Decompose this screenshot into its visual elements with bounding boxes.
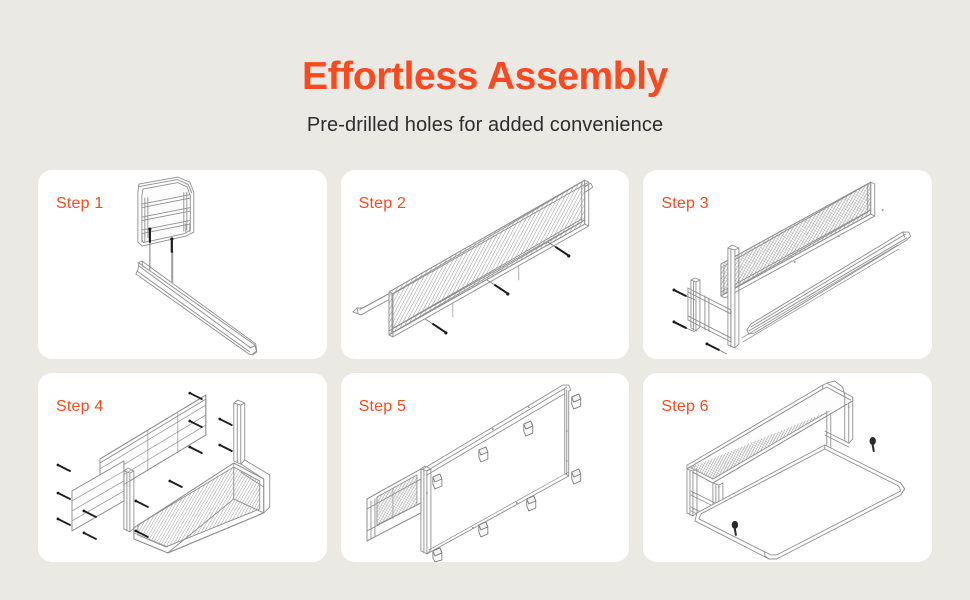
step-card-3[interactable]: Step 3 (643, 170, 932, 359)
step-label-6: Step 6 (661, 398, 708, 416)
page-title: Effortless Assembly (0, 57, 970, 96)
step-card-6[interactable]: Step 6 (643, 373, 932, 562)
header: Effortless Assembly Pre-drilled holes fo… (0, 0, 970, 137)
step-label-1: Step 1 (56, 195, 103, 213)
step-card-5[interactable]: Step 5 (341, 373, 630, 562)
step-label-2: Step 2 (359, 195, 406, 213)
assembly-infographic: Effortless Assembly Pre-drilled holes fo… (0, 0, 970, 600)
step-card-1[interactable]: Step 1 (38, 170, 327, 359)
step-card-4[interactable]: Step 4 (38, 373, 327, 562)
page-subtitle: Pre-drilled holes for added convenience (0, 114, 970, 137)
step-card-2[interactable]: Step 2 (341, 170, 630, 359)
step-label-5: Step 5 (359, 398, 406, 416)
step-label-4: Step 4 (56, 398, 103, 416)
step-label-3: Step 3 (661, 195, 708, 213)
steps-grid: Step 1 (38, 170, 932, 562)
